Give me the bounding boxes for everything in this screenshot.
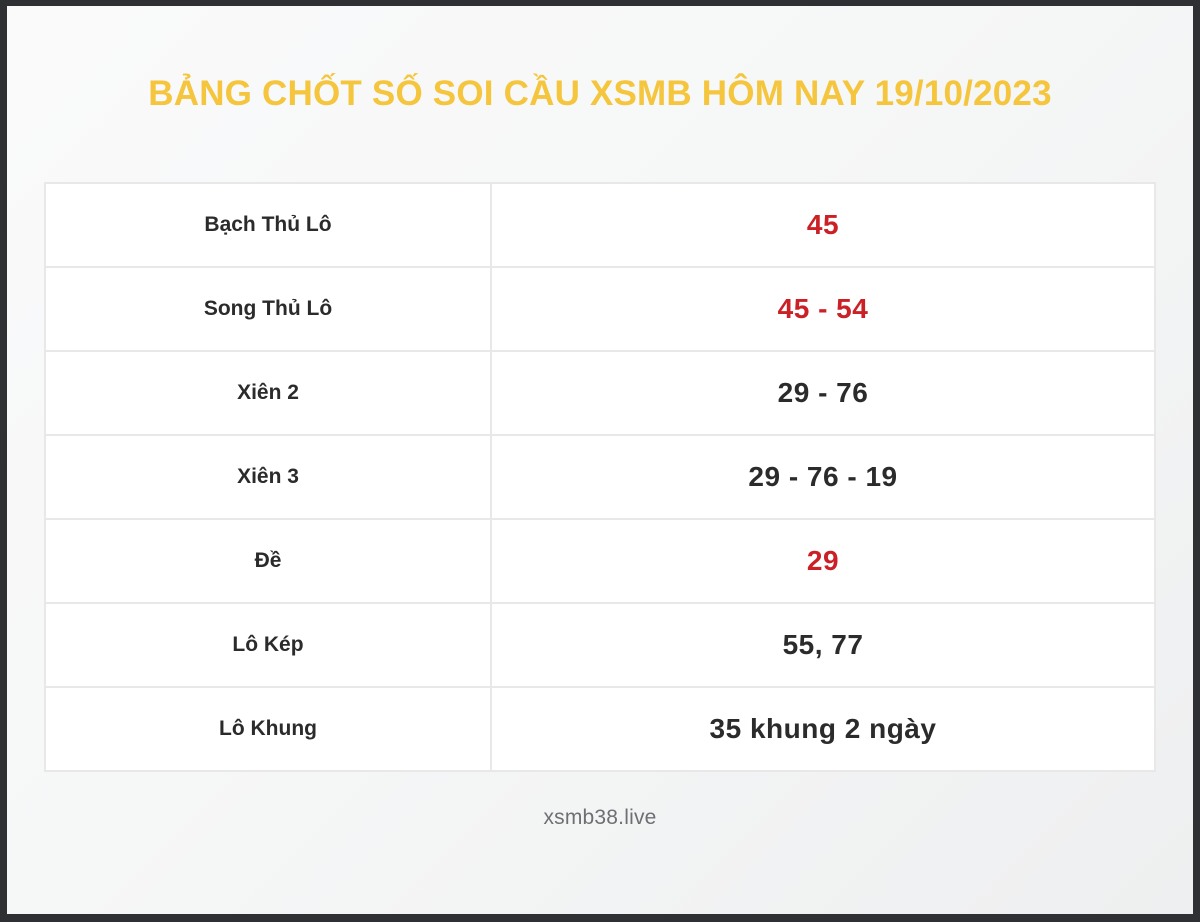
row-value: 35 khung 2 ngày xyxy=(491,687,1155,771)
table-row: Xiên 329 - 76 - 19 xyxy=(45,435,1155,519)
row-label: Song Thủ Lô xyxy=(45,267,491,351)
row-value: 45 xyxy=(491,183,1155,267)
row-value: 29 xyxy=(491,519,1155,603)
row-value: 55, 77 xyxy=(491,603,1155,687)
row-label: Lô Kép xyxy=(45,603,491,687)
table-row: Đề29 xyxy=(45,519,1155,603)
row-value: 29 - 76 - 19 xyxy=(491,435,1155,519)
row-label: Lô Khung xyxy=(45,687,491,771)
table-row: Bạch Thủ Lô45 xyxy=(45,183,1155,267)
row-label: Xiên 2 xyxy=(45,351,491,435)
prediction-table: Bạch Thủ Lô45Song Thủ Lô45 - 54Xiên 229 … xyxy=(44,182,1156,772)
row-label: Bạch Thủ Lô xyxy=(45,183,491,267)
site-watermark: xsmb38.live xyxy=(543,806,656,829)
row-label: Đề xyxy=(45,519,491,603)
page-title: BẢNG CHỐT SỐ SOI CẦU XSMB HÔM NAY 19/10/… xyxy=(148,75,1052,114)
page-frame: BẢNG CHỐT SỐ SOI CẦU XSMB HÔM NAY 19/10/… xyxy=(7,6,1193,914)
table-row: Lô Khung35 khung 2 ngày xyxy=(45,687,1155,771)
table-body: Bạch Thủ Lô45Song Thủ Lô45 - 54Xiên 229 … xyxy=(45,183,1155,771)
row-value: 29 - 76 xyxy=(491,351,1155,435)
table-row: Xiên 229 - 76 xyxy=(45,351,1155,435)
table-row: Lô Kép55, 77 xyxy=(45,603,1155,687)
table-row: Song Thủ Lô45 - 54 xyxy=(45,267,1155,351)
row-value: 45 - 54 xyxy=(491,267,1155,351)
row-label: Xiên 3 xyxy=(45,435,491,519)
footer: xsmb38.live xyxy=(7,806,1193,830)
title-bar: BẢNG CHỐT SỐ SOI CẦU XSMB HÔM NAY 19/10/… xyxy=(7,6,1193,182)
